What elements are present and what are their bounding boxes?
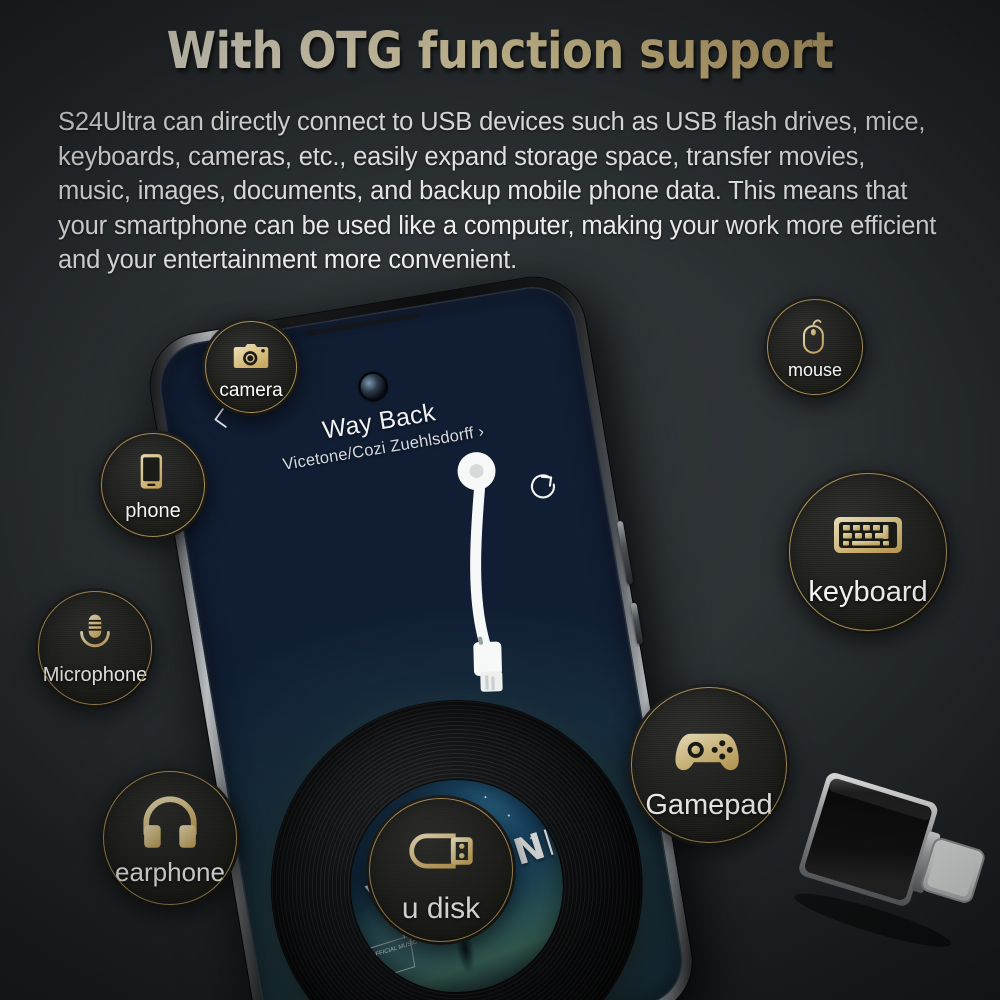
badge-camera[interactable]: camera — [202, 318, 300, 416]
earpiece-speaker — [305, 312, 420, 336]
badge-udisk[interactable]: u disk — [366, 795, 516, 945]
headphones-icon — [139, 792, 201, 854]
badge-label-earphone: earphone — [115, 859, 225, 885]
badge-gamepad[interactable]: Gamepad — [628, 684, 790, 846]
badge-label-phone: phone — [125, 501, 181, 521]
badge-label-camera: camera — [219, 381, 282, 400]
badge-microphone[interactable]: Microphone — [35, 588, 155, 708]
badge-label-microphone: Microphone — [43, 665, 148, 685]
camera-icon — [230, 335, 272, 377]
album-art-badge: OFFICIAL MUSIC VIDEO — [366, 935, 415, 981]
badge-label-keyboard: keyboard — [808, 578, 927, 607]
badge-earphone[interactable]: earphone — [100, 768, 240, 908]
badge-phone[interactable]: phone — [98, 430, 208, 540]
album-art-figure — [456, 938, 477, 974]
description-paragraph: S24Ultra can directly connect to USB dev… — [58, 105, 938, 278]
microphone-icon — [70, 611, 120, 661]
badge-keyboard[interactable]: keyboard — [786, 470, 950, 634]
page-title: With OTG function support — [60, 22, 940, 81]
badge-label-udisk: u disk — [402, 894, 480, 924]
front-camera-icon — [359, 372, 388, 401]
badge-label-gamepad: Gamepad — [645, 791, 772, 820]
badge-label-mouse: mouse — [788, 361, 842, 379]
mouse-icon — [793, 315, 837, 359]
badge-mouse[interactable]: mouse — [764, 296, 866, 398]
usb-flash-drive-icon — [406, 816, 476, 886]
smartphone-icon — [130, 450, 176, 496]
promo-banner: With OTG function support S24Ultra can d… — [0, 0, 1000, 1000]
gamepad-icon — [672, 711, 746, 785]
album-art-badge-text: OFFICIAL MUSIC VIDEO — [367, 936, 412, 965]
keyboard-icon — [831, 498, 905, 572]
